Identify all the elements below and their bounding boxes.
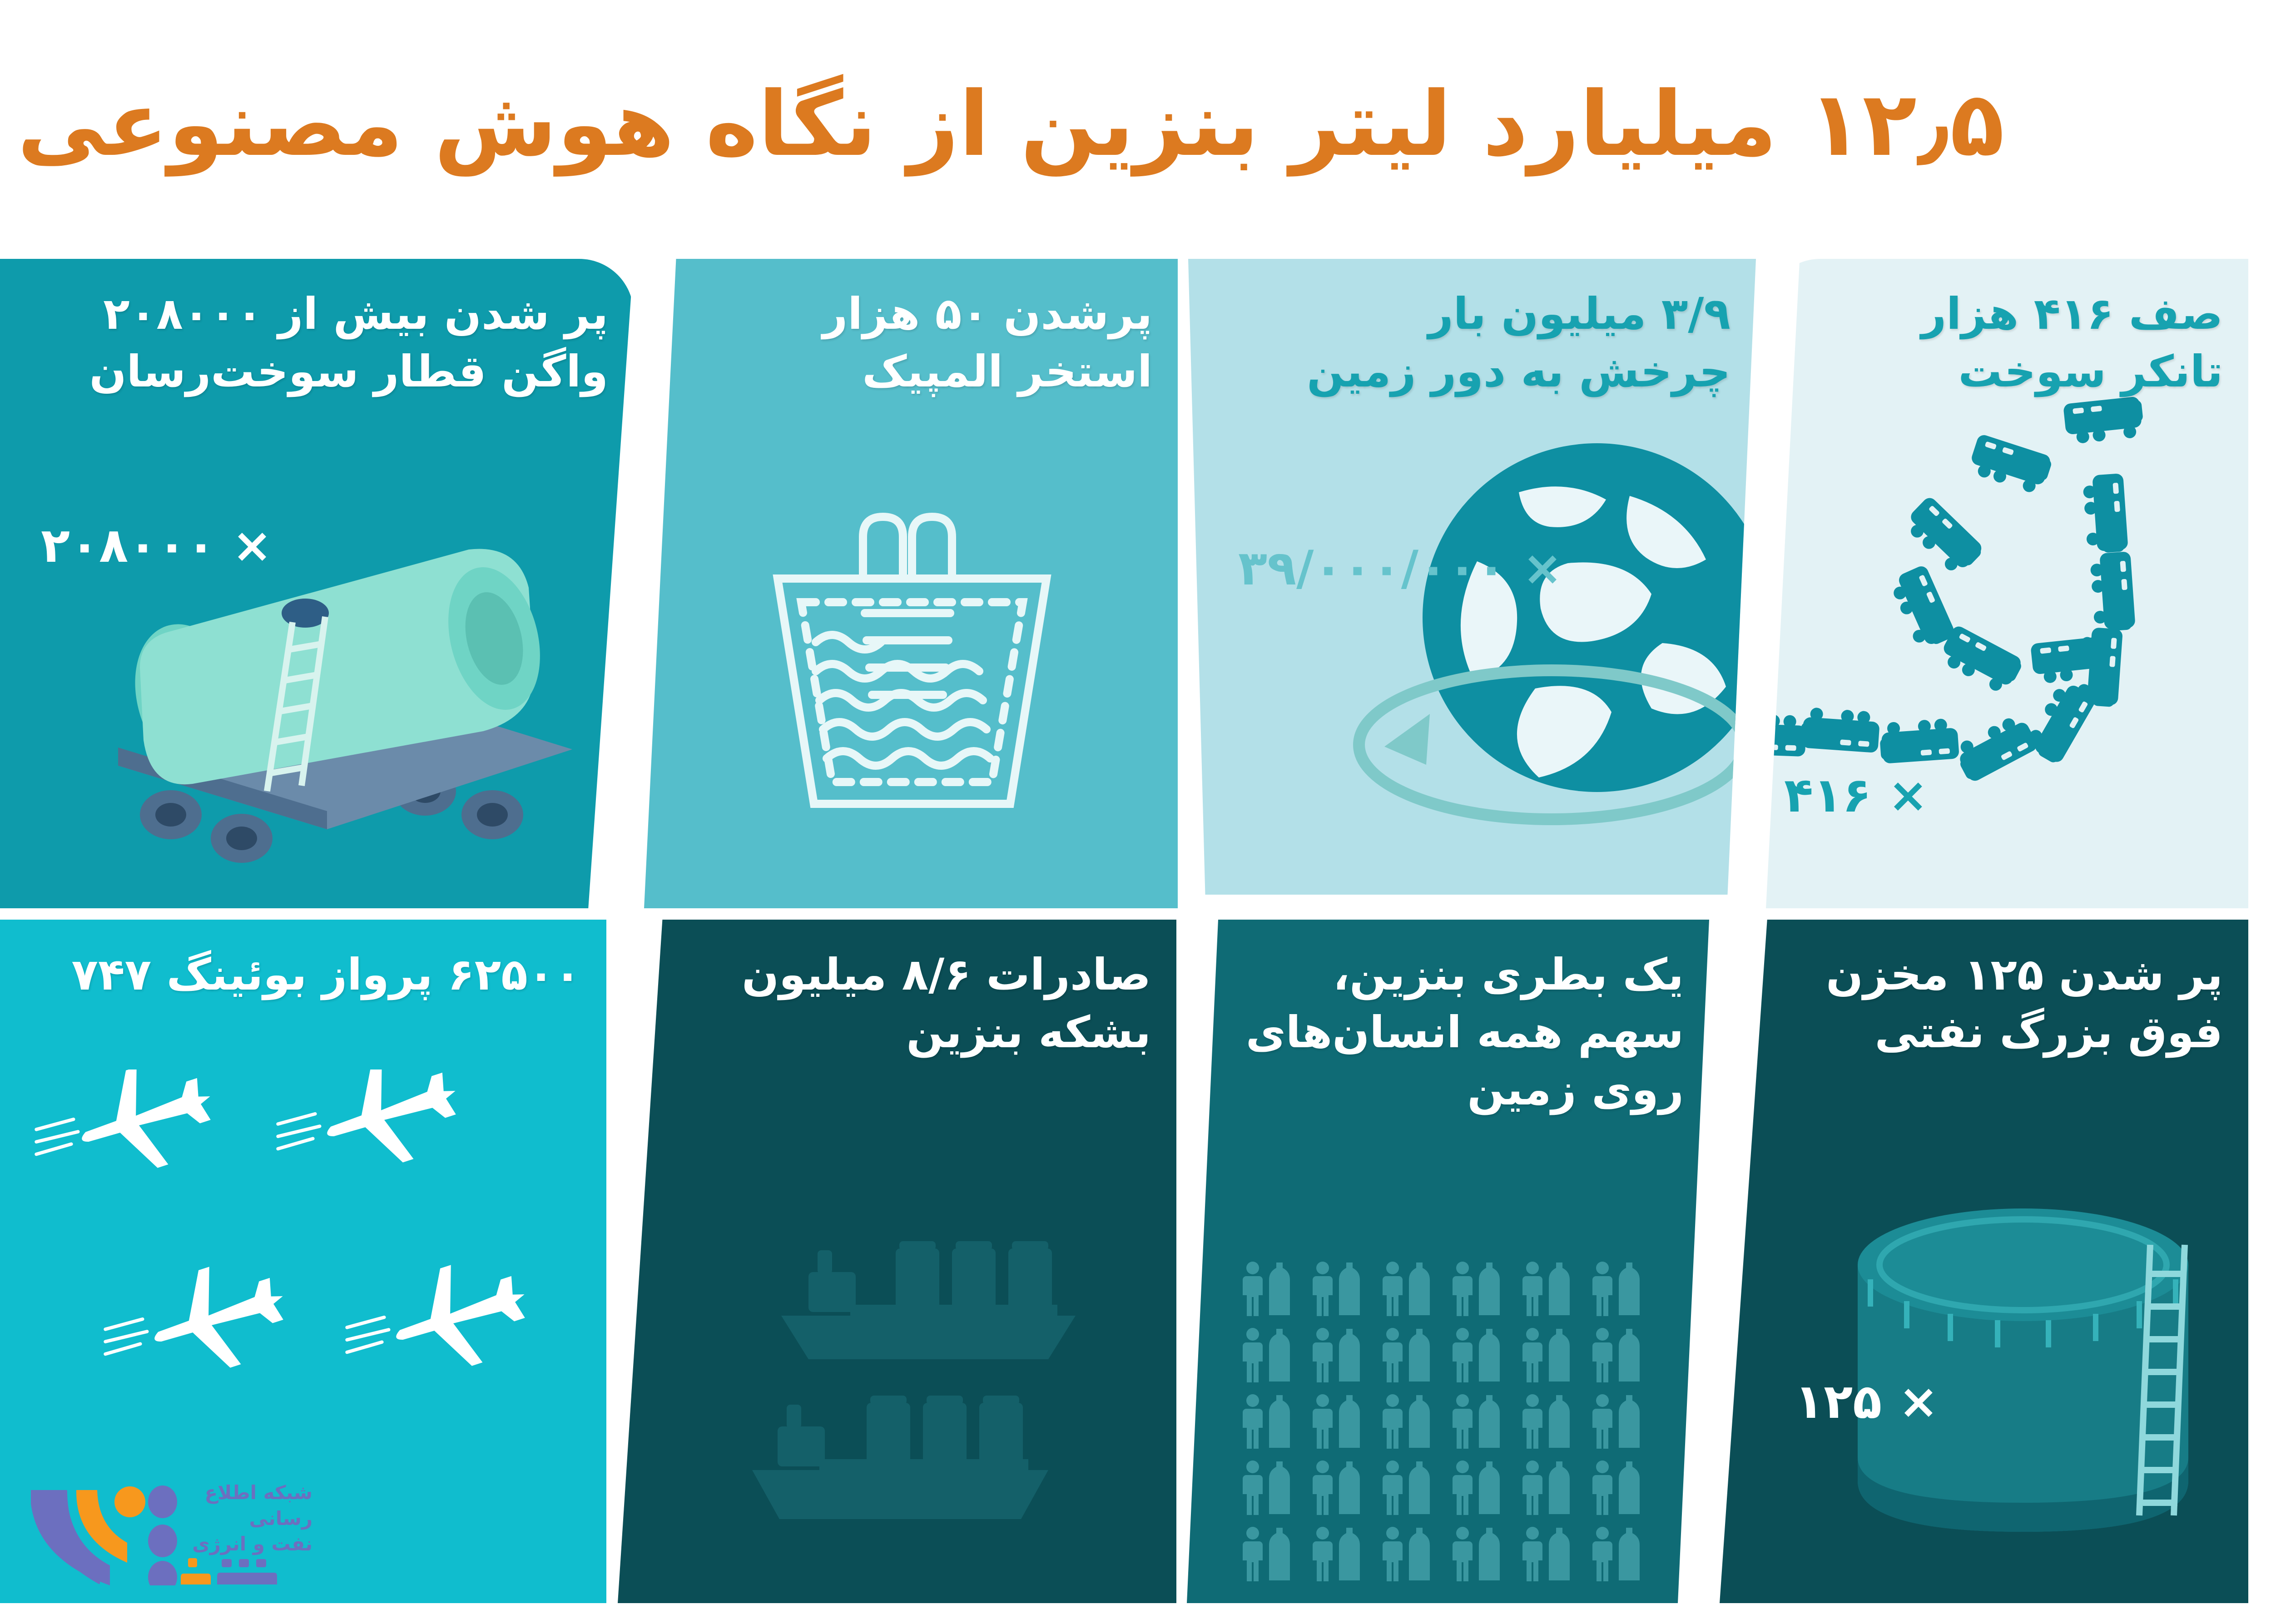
people-row (1214, 1526, 1682, 1585)
card-tanker-text: صف ۴۱۶ هزار تانکر سوخت (1791, 285, 2223, 400)
card-gasoline-export-ship[interactable]: صادرات ۸/۶ میلیون بشکه بنزین (618, 920, 1176, 1603)
card-one-bottle-per-person[interactable]: یک بطری بنزین، سهم همه انسان‌های روی زمی… (1187, 920, 1709, 1603)
people-with-bottles-icon (1214, 1261, 1682, 1585)
people-row (1214, 1393, 1682, 1452)
logo-text-line1: شبکه اطلاع رسانی (158, 1480, 312, 1531)
title-bar: ۱۲٫۵ میلیارد لیتر بنزین از نگاه هوش مصنو… (0, 9, 2271, 241)
earth-globe-orbit-icon (1324, 409, 1756, 895)
card-wagon-text: پر شدن بیش از ۲۰۸۰۰۰ واگن قطار سوخت‌رسان (12, 285, 608, 400)
card-earth-orbit[interactable]: ۳/۹ میلیون بار چرخش به دور زمین ۳۹/۰۰۰/۰… (1188, 259, 1756, 895)
logo-text-line2: نفت و انرژی (158, 1531, 312, 1557)
olympic-swimming-pool-icon (721, 477, 1103, 831)
people-row (1214, 1327, 1682, 1386)
oil-cargo-ship-icon (672, 1174, 1135, 1583)
card-earth-text: ۳/۹ میلیون بار چرخش به دور زمین (1214, 285, 1731, 400)
card-tank-count: ۱۲۵ × (1795, 1374, 1939, 1429)
card-tanker-count: ۴۱۶ × (1784, 767, 1928, 823)
card-earth-count: ۳۹/۰۰۰/۰۰۰ × (1238, 540, 1562, 596)
fuel-train-wagon-icon (64, 522, 600, 886)
boeing-747-airplane-icon (27, 1069, 540, 1524)
card-fuel-tanker-queue[interactable]: صف ۴۱۶ هزار تانکر سوخت ۴۱۶ × (1766, 259, 2248, 908)
card-giant-oil-tank[interactable]: پر شدن ۱۲۵ مخزن فوق بزرگ نفتی ۱۲۵ × (1720, 920, 2248, 1603)
card-plane-text: ۶۲۵۰۰ پرواز بوئینگ ۷۴۷ (12, 946, 581, 1004)
card-wagon-count: ۲۰۸۰۰۰ × (41, 518, 272, 573)
cards-grid: پر شدن بیش از ۲۰۸۰۰۰ واگن قطار سوخت‌رسان… (0, 259, 2248, 1603)
page-title: ۱۲٫۵ میلیارد لیتر بنزین از نگاه هوش مصنو… (17, 70, 2004, 179)
card-pool-text: پرشدن ۵۰ هزار استخر المپیک (669, 285, 1152, 400)
infographic-page: ۱۲٫۵ میلیارد لیتر بنزین از نگاه هوش مصنو… (0, 0, 2271, 1624)
card-people-text: یک بطری بنزین، سهم همه انسان‌های روی زمی… (1212, 946, 1684, 1119)
shana-logo[interactable]: شبکه اطلاع رسانی نفت و انرژی (31, 1472, 312, 1585)
card-ship-text: صادرات ۸/۶ میلیون بشکه بنزین (643, 946, 1151, 1061)
card-fuel-train-wagon[interactable]: پر شدن بیش از ۲۰۸۰۰۰ واگن قطار سوخت‌رسان… (0, 259, 634, 908)
fuel-tanker-truck-queue-icon (1766, 386, 2248, 908)
card-tank-text: پر شدن ۱۲۵ مخزن فوق بزرگ نفتی (1745, 946, 2223, 1061)
card-olympic-pool[interactable]: پرشدن ۵۰ هزار استخر المپیک (644, 259, 1178, 908)
people-row (1214, 1261, 1682, 1320)
people-row (1214, 1460, 1682, 1519)
